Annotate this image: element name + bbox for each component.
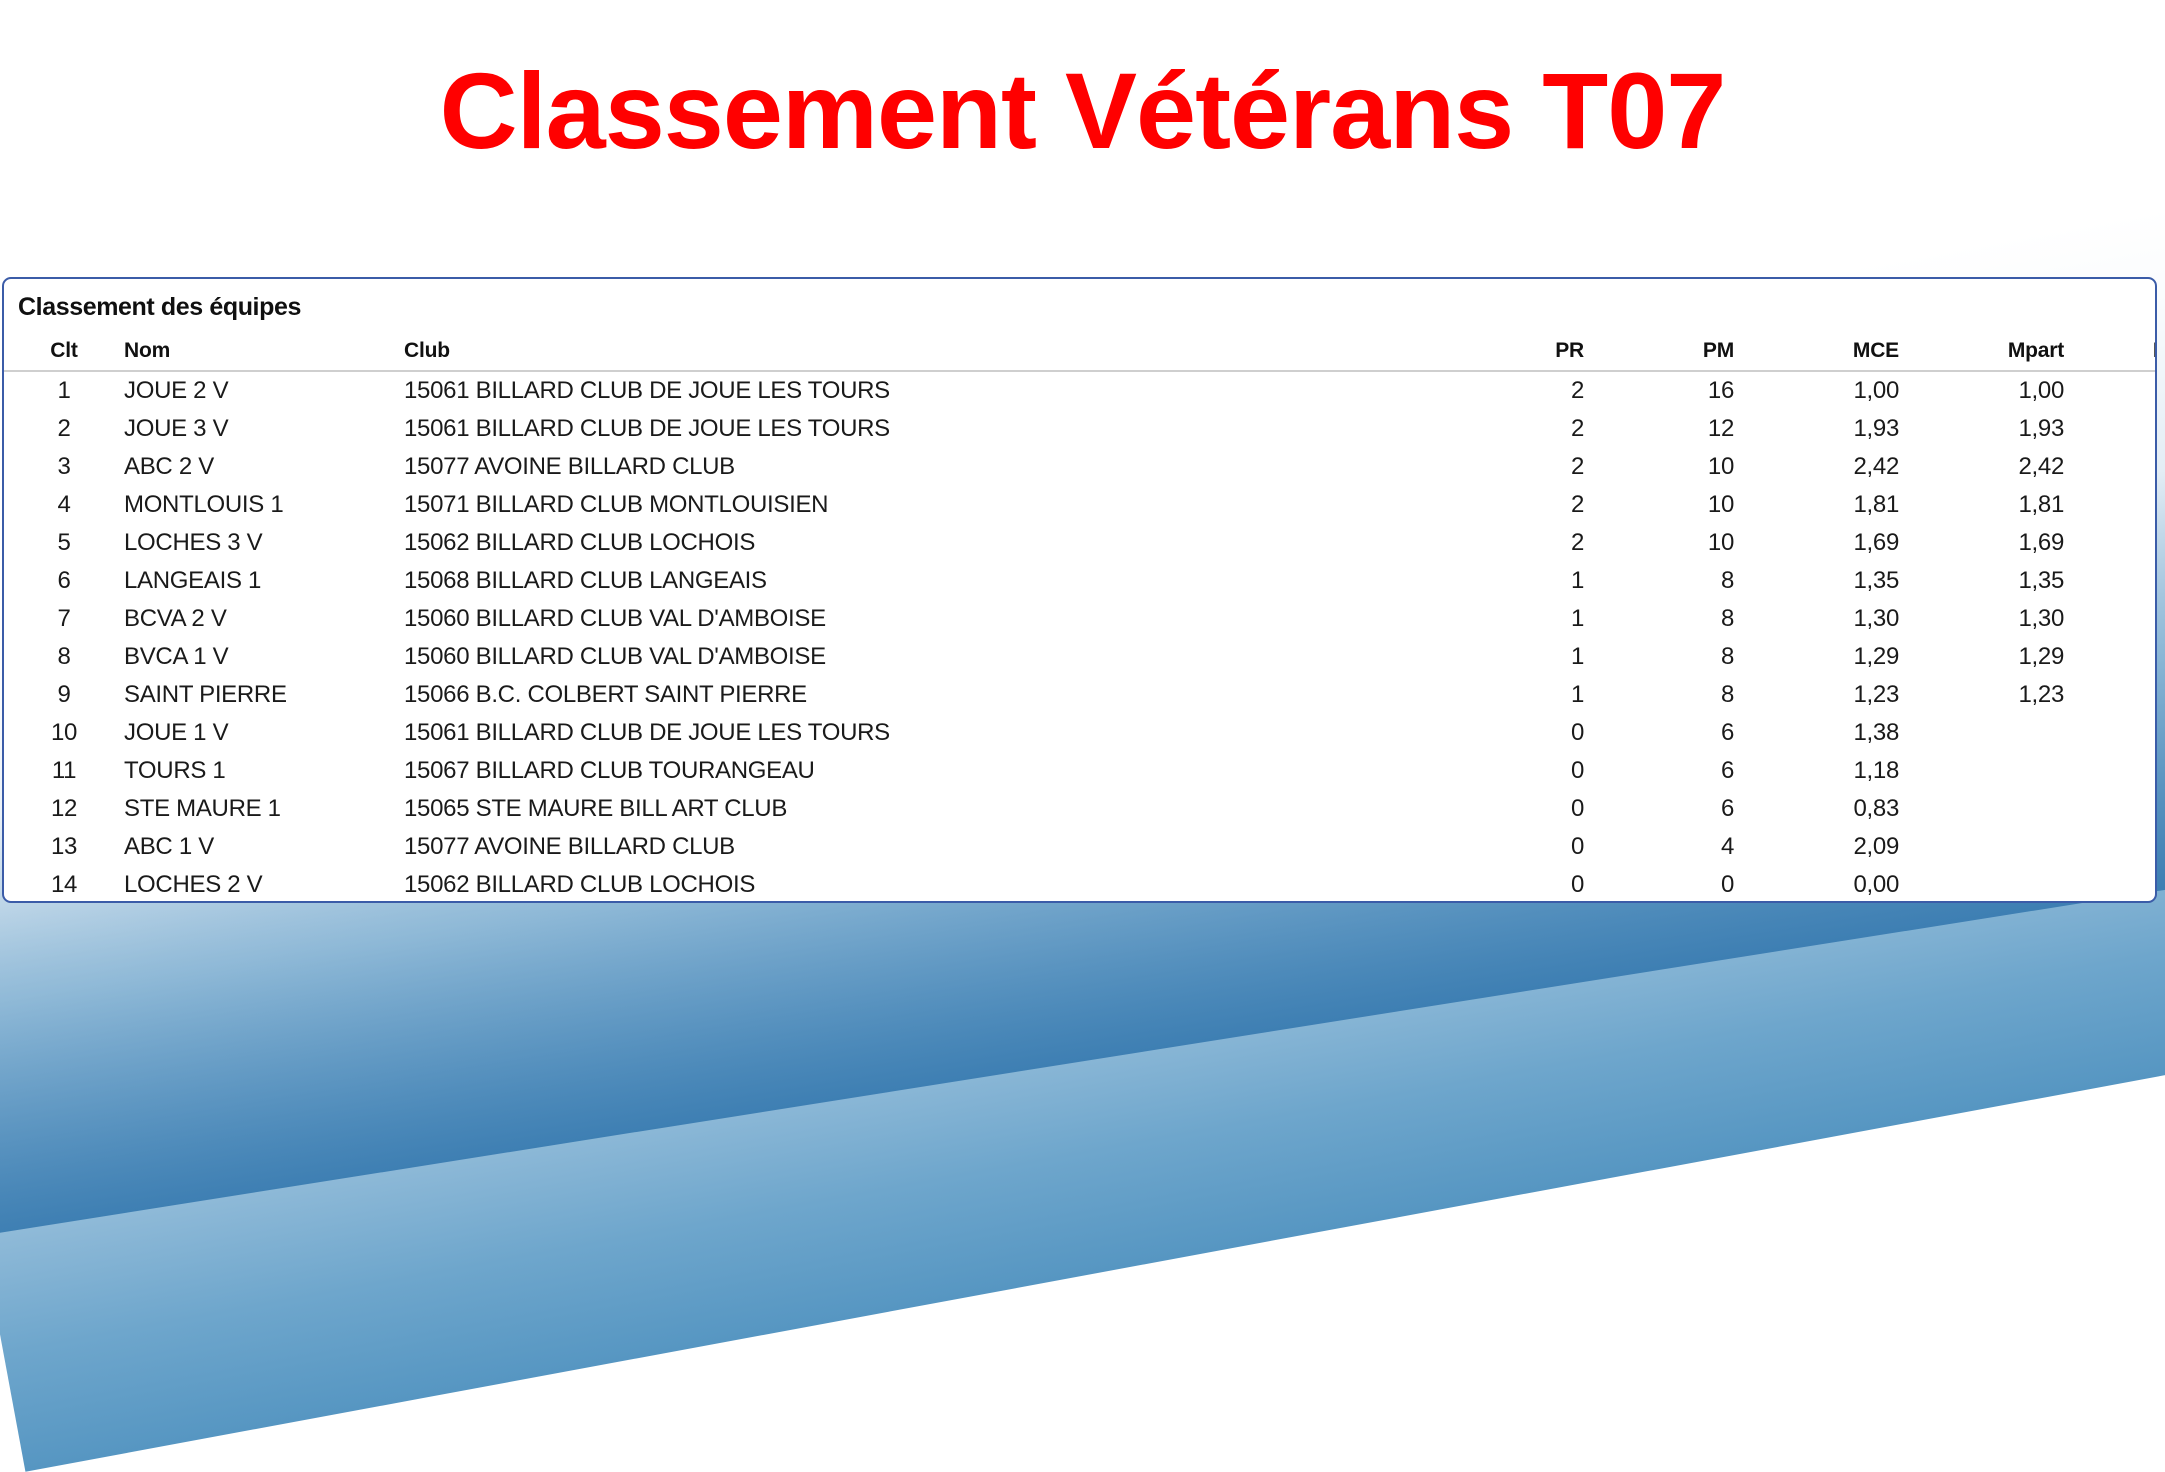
cell-pm: 8 bbox=[1584, 638, 1734, 676]
cell-mpart bbox=[1899, 790, 2064, 828]
cell-pm: 10 bbox=[1584, 486, 1734, 524]
cell-ms: 21 bbox=[2064, 486, 2157, 524]
cell-nom: STE MAURE 1 bbox=[124, 790, 404, 828]
cell-pr: 2 bbox=[1444, 410, 1584, 448]
cell-mpart: 1,29 bbox=[1899, 638, 2064, 676]
column-header-club[interactable]: Club bbox=[404, 335, 1444, 371]
cell-nom: LOCHES 3 V bbox=[124, 524, 404, 562]
cell-pr: 1 bbox=[1444, 676, 1584, 714]
cell-mpart: 2,42 bbox=[1899, 448, 2064, 486]
cell-clt: 2 bbox=[4, 410, 124, 448]
table-header-row: Clt Nom Club PR PM MCE Mpart MS bbox=[4, 335, 2157, 371]
cell-mpart: 1,93 bbox=[1899, 410, 2064, 448]
table-row[interactable]: 9SAINT PIERRE15066 B.C. COLBERT SAINT PI… bbox=[4, 676, 2157, 714]
table-row[interactable]: 4MONTLOUIS 115071 BILLARD CLUB MONTLOUIS… bbox=[4, 486, 2157, 524]
cell-pm: 6 bbox=[1584, 714, 1734, 752]
cell-pm: 4 bbox=[1584, 828, 1734, 866]
table-row[interactable]: 2JOUE 3 V15061 BILLARD CLUB DE JOUE LES … bbox=[4, 410, 2157, 448]
cell-clt: 12 bbox=[4, 790, 124, 828]
cell-pm: 16 bbox=[1584, 371, 1734, 410]
column-header-mce[interactable]: MCE bbox=[1734, 335, 1899, 371]
cell-ms: 10 bbox=[2064, 600, 2157, 638]
column-header-pm[interactable]: PM bbox=[1584, 335, 1734, 371]
cell-mpart bbox=[1899, 828, 2064, 866]
panel-heading: Classement des équipes bbox=[18, 293, 301, 322]
cell-nom: BCVA 2 V bbox=[124, 600, 404, 638]
column-header-pr[interactable]: PR bbox=[1444, 335, 1584, 371]
column-header-nom[interactable]: Nom bbox=[124, 335, 404, 371]
cell-clt: 8 bbox=[4, 638, 124, 676]
cell-mpart: 1,35 bbox=[1899, 562, 2064, 600]
cell-mce: 1,38 bbox=[1734, 714, 1899, 752]
cell-ms: 34 bbox=[2064, 448, 2157, 486]
cell-clt: 10 bbox=[4, 714, 124, 752]
table-row[interactable]: 8BVCA 1 V15060 BILLARD CLUB VAL D'AMBOIS… bbox=[4, 638, 2157, 676]
cell-clt: 9 bbox=[4, 676, 124, 714]
cell-pm: 0 bbox=[1584, 866, 1734, 903]
cell-club: 15077 AVOINE BILLARD CLUB bbox=[404, 448, 1444, 486]
cell-ms bbox=[2064, 714, 2157, 752]
cell-mce: 1,18 bbox=[1734, 752, 1899, 790]
cell-pr: 2 bbox=[1444, 448, 1584, 486]
cell-mpart bbox=[1899, 752, 2064, 790]
cell-clt: 6 bbox=[4, 562, 124, 600]
cell-ms bbox=[2064, 866, 2157, 903]
table-row[interactable]: 11TOURS 115067 BILLARD CLUB TOURANGEAU06… bbox=[4, 752, 2157, 790]
cell-pr: 0 bbox=[1444, 752, 1584, 790]
cell-clt: 13 bbox=[4, 828, 124, 866]
cell-mce: 1,35 bbox=[1734, 562, 1899, 600]
column-header-mpart[interactable]: Mpart bbox=[1899, 335, 2064, 371]
table-row[interactable]: 3ABC 2 V15077 AVOINE BILLARD CLUB2102,42… bbox=[4, 448, 2157, 486]
cell-ms: 27 bbox=[2064, 524, 2157, 562]
cell-club: 15062 BILLARD CLUB LOCHOIS bbox=[404, 524, 1444, 562]
cell-club: 15071 BILLARD CLUB MONTLOUISIEN bbox=[404, 486, 1444, 524]
cell-mce: 0,00 bbox=[1734, 866, 1899, 903]
table-row[interactable]: 6LANGEAIS 115068 BILLARD CLUB LANGEAIS18… bbox=[4, 562, 2157, 600]
cell-club: 15061 BILLARD CLUB DE JOUE LES TOURS bbox=[404, 714, 1444, 752]
page-title: Classement Vétérans T07 bbox=[0, 52, 2165, 170]
cell-club: 15067 BILLARD CLUB TOURANGEAU bbox=[404, 752, 1444, 790]
cell-nom: BVCA 1 V bbox=[124, 638, 404, 676]
cell-mpart bbox=[1899, 714, 2064, 752]
cell-mce: 1,23 bbox=[1734, 676, 1899, 714]
cell-ms: 1 bbox=[2064, 371, 2157, 410]
cell-club: 15061 BILLARD CLUB DE JOUE LES TOURS bbox=[404, 410, 1444, 448]
table-body: 1JOUE 2 V15061 BILLARD CLUB DE JOUE LES … bbox=[4, 371, 2157, 903]
cell-mpart bbox=[1899, 866, 2064, 903]
cell-club: 15060 BILLARD CLUB VAL D'AMBOISE bbox=[404, 638, 1444, 676]
cell-mce: 1,81 bbox=[1734, 486, 1899, 524]
cell-nom: JOUE 1 V bbox=[124, 714, 404, 752]
cell-mce: 1,00 bbox=[1734, 371, 1899, 410]
cell-clt: 5 bbox=[4, 524, 124, 562]
cell-ms: 18 bbox=[2064, 410, 2157, 448]
cell-club: 15066 B.C. COLBERT SAINT PIERRE bbox=[404, 676, 1444, 714]
cell-mce: 1,30 bbox=[1734, 600, 1899, 638]
table-row[interactable]: 5LOCHES 3 V15062 BILLARD CLUB LOCHOIS210… bbox=[4, 524, 2157, 562]
cell-mce: 2,42 bbox=[1734, 448, 1899, 486]
cell-pm: 8 bbox=[1584, 600, 1734, 638]
cell-nom: LOCHES 2 V bbox=[124, 866, 404, 903]
cell-club: 15061 BILLARD CLUB DE JOUE LES TOURS bbox=[404, 371, 1444, 410]
cell-pr: 0 bbox=[1444, 714, 1584, 752]
cell-ms: 13 bbox=[2064, 676, 2157, 714]
cell-club: 15068 BILLARD CLUB LANGEAIS bbox=[404, 562, 1444, 600]
cell-nom: SAINT PIERRE bbox=[124, 676, 404, 714]
cell-nom: MONTLOUIS 1 bbox=[124, 486, 404, 524]
table-row[interactable]: 1JOUE 2 V15061 BILLARD CLUB DE JOUE LES … bbox=[4, 371, 2157, 410]
column-header-ms[interactable]: MS bbox=[2064, 335, 2157, 371]
cell-mpart: 1,81 bbox=[1899, 486, 2064, 524]
cell-pr: 2 bbox=[1444, 524, 1584, 562]
cell-pm: 8 bbox=[1584, 562, 1734, 600]
cell-pr: 0 bbox=[1444, 790, 1584, 828]
table-row[interactable]: 7BCVA 2 V15060 BILLARD CLUB VAL D'AMBOIS… bbox=[4, 600, 2157, 638]
cell-pr: 0 bbox=[1444, 828, 1584, 866]
cell-ms: 9 bbox=[2064, 638, 2157, 676]
cell-nom: TOURS 1 bbox=[124, 752, 404, 790]
cell-mpart: 1,23 bbox=[1899, 676, 2064, 714]
cell-mce: 1,93 bbox=[1734, 410, 1899, 448]
cell-clt: 14 bbox=[4, 866, 124, 903]
cell-ms bbox=[2064, 752, 2157, 790]
cell-mce: 0,83 bbox=[1734, 790, 1899, 828]
cell-pr: 1 bbox=[1444, 600, 1584, 638]
cell-club: 15060 BILLARD CLUB VAL D'AMBOISE bbox=[404, 600, 1444, 638]
cell-nom: ABC 1 V bbox=[124, 828, 404, 866]
table-row[interactable]: 14LOCHES 2 V15062 BILLARD CLUB LOCHOIS00… bbox=[4, 866, 2157, 903]
cell-nom: ABC 2 V bbox=[124, 448, 404, 486]
table-row[interactable]: 12STE MAURE 115065 STE MAURE BILL ART CL… bbox=[4, 790, 2157, 828]
cell-mpart: 1,69 bbox=[1899, 524, 2064, 562]
cell-nom: LANGEAIS 1 bbox=[124, 562, 404, 600]
cell-club: 15065 STE MAURE BILL ART CLUB bbox=[404, 790, 1444, 828]
cell-ms: 19 bbox=[2064, 562, 2157, 600]
cell-ms bbox=[2064, 790, 2157, 828]
ranking-panel: Classement des équipes Clt Nom Club PR P… bbox=[2, 277, 2157, 903]
cell-clt: 3 bbox=[4, 448, 124, 486]
cell-nom: JOUE 3 V bbox=[124, 410, 404, 448]
cell-club: 15062 BILLARD CLUB LOCHOIS bbox=[404, 866, 1444, 903]
cell-clt: 7 bbox=[4, 600, 124, 638]
table-row[interactable]: 10JOUE 1 V15061 BILLARD CLUB DE JOUE LES… bbox=[4, 714, 2157, 752]
cell-club: 15077 AVOINE BILLARD CLUB bbox=[404, 828, 1444, 866]
cell-pr: 0 bbox=[1444, 866, 1584, 903]
cell-nom: JOUE 2 V bbox=[124, 371, 404, 410]
cell-pm: 6 bbox=[1584, 752, 1734, 790]
cell-pm: 8 bbox=[1584, 676, 1734, 714]
cell-mpart: 1,30 bbox=[1899, 600, 2064, 638]
cell-pm: 10 bbox=[1584, 524, 1734, 562]
cell-mce: 1,69 bbox=[1734, 524, 1899, 562]
cell-mce: 2,09 bbox=[1734, 828, 1899, 866]
cell-pm: 10 bbox=[1584, 448, 1734, 486]
cell-pm: 12 bbox=[1584, 410, 1734, 448]
ranking-table: Clt Nom Club PR PM MCE Mpart MS 1JOUE 2 … bbox=[4, 335, 2157, 903]
cell-pm: 6 bbox=[1584, 790, 1734, 828]
cell-clt: 1 bbox=[4, 371, 124, 410]
cell-clt: 4 bbox=[4, 486, 124, 524]
cell-pr: 1 bbox=[1444, 562, 1584, 600]
cell-pr: 2 bbox=[1444, 486, 1584, 524]
cell-mce: 1,29 bbox=[1734, 638, 1899, 676]
cell-clt: 11 bbox=[4, 752, 124, 790]
table-row[interactable]: 13ABC 1 V15077 AVOINE BILLARD CLUB042,09 bbox=[4, 828, 2157, 866]
cell-pr: 2 bbox=[1444, 371, 1584, 410]
cell-ms bbox=[2064, 828, 2157, 866]
cell-mpart: 1,00 bbox=[1899, 371, 2064, 410]
cell-pr: 1 bbox=[1444, 638, 1584, 676]
column-header-clt[interactable]: Clt bbox=[4, 335, 124, 371]
